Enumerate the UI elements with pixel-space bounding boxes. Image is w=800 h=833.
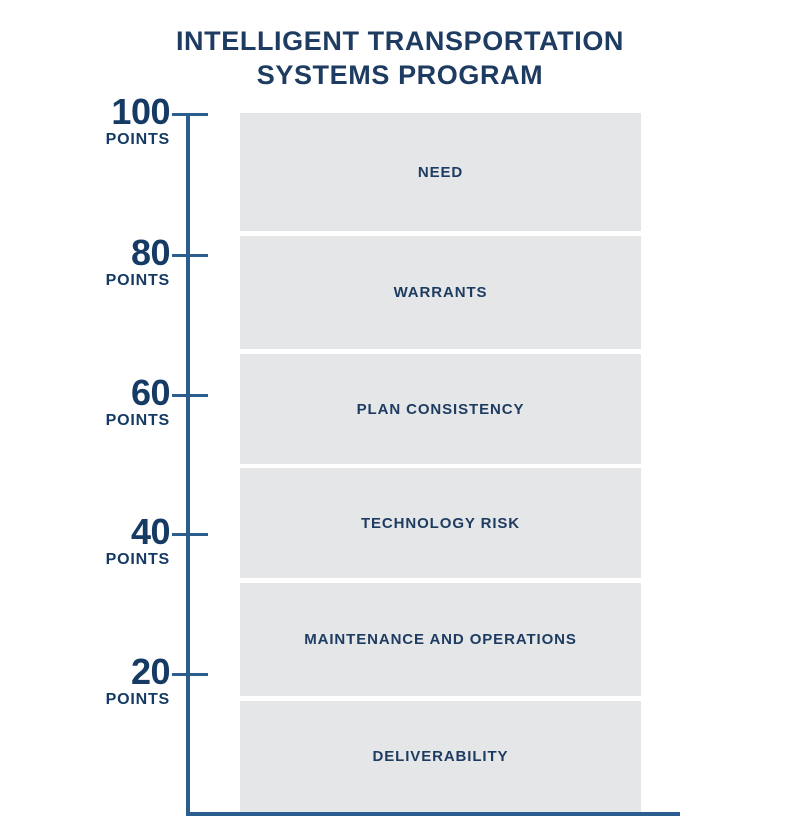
stacked-bar-column: NEED WARRANTS PLAN CONSISTENCY TECHNOLOG… — [240, 113, 641, 812]
bar-segment-label-deliverability: DELIVERABILITY — [373, 748, 509, 765]
axis-label-80-unit: POINTS — [42, 272, 170, 290]
axis-label-60-value: 60 — [42, 375, 170, 411]
axis-tick-40 — [172, 533, 208, 536]
bar-segment-maintenance-and-operations[interactable]: MAINTENANCE AND OPERATIONS — [240, 583, 641, 696]
axis-tick-100 — [172, 113, 208, 116]
its-program-scoring-chart: INTELLIGENT TRANSPORTATION SYSTEMS PROGR… — [0, 0, 800, 833]
bar-segment-technology-risk[interactable]: TECHNOLOGY RISK — [240, 468, 641, 578]
bar-segment-label-need: NEED — [418, 164, 463, 181]
axis-tick-20 — [172, 673, 208, 676]
axis-label-20-value: 20 — [42, 654, 170, 690]
page-title-line-2: SYSTEMS PROGRAM — [120, 58, 680, 92]
bar-segment-deliverability[interactable]: DELIVERABILITY — [240, 701, 641, 812]
axis-label-100-unit: POINTS — [42, 131, 170, 149]
axis-tick-80 — [172, 254, 208, 257]
bar-segment-need[interactable]: NEED — [240, 113, 641, 231]
x-axis-line — [186, 812, 680, 816]
axis-label-80-value: 80 — [42, 235, 170, 271]
bar-segment-warrants[interactable]: WARRANTS — [240, 236, 641, 349]
bar-segment-label-plan-consistency: PLAN CONSISTENCY — [357, 401, 525, 418]
bar-segment-plan-consistency[interactable]: PLAN CONSISTENCY — [240, 354, 641, 464]
axis-label-40-unit: POINTS — [42, 551, 170, 569]
axis-label-40-value: 40 — [42, 514, 170, 550]
page-title-line-1: INTELLIGENT TRANSPORTATION — [120, 24, 680, 58]
axis-label-40: 40 POINTS — [42, 514, 170, 569]
bar-segment-label-technology-risk: TECHNOLOGY RISK — [361, 515, 520, 532]
axis-label-80: 80 POINTS — [42, 235, 170, 290]
axis-label-20-unit: POINTS — [42, 691, 170, 709]
axis-label-60: 60 POINTS — [42, 375, 170, 430]
axis-label-20: 20 POINTS — [42, 654, 170, 709]
bar-segment-label-maintenance-and-operations: MAINTENANCE AND OPERATIONS — [304, 631, 577, 648]
page-title: INTELLIGENT TRANSPORTATION SYSTEMS PROGR… — [120, 24, 680, 92]
bar-segment-label-warrants: WARRANTS — [394, 284, 488, 301]
axis-label-100: 100 POINTS — [42, 94, 170, 149]
y-axis-line — [186, 113, 190, 816]
axis-label-60-unit: POINTS — [42, 412, 170, 430]
axis-label-100-value: 100 — [42, 94, 170, 130]
axis-tick-60 — [172, 394, 208, 397]
